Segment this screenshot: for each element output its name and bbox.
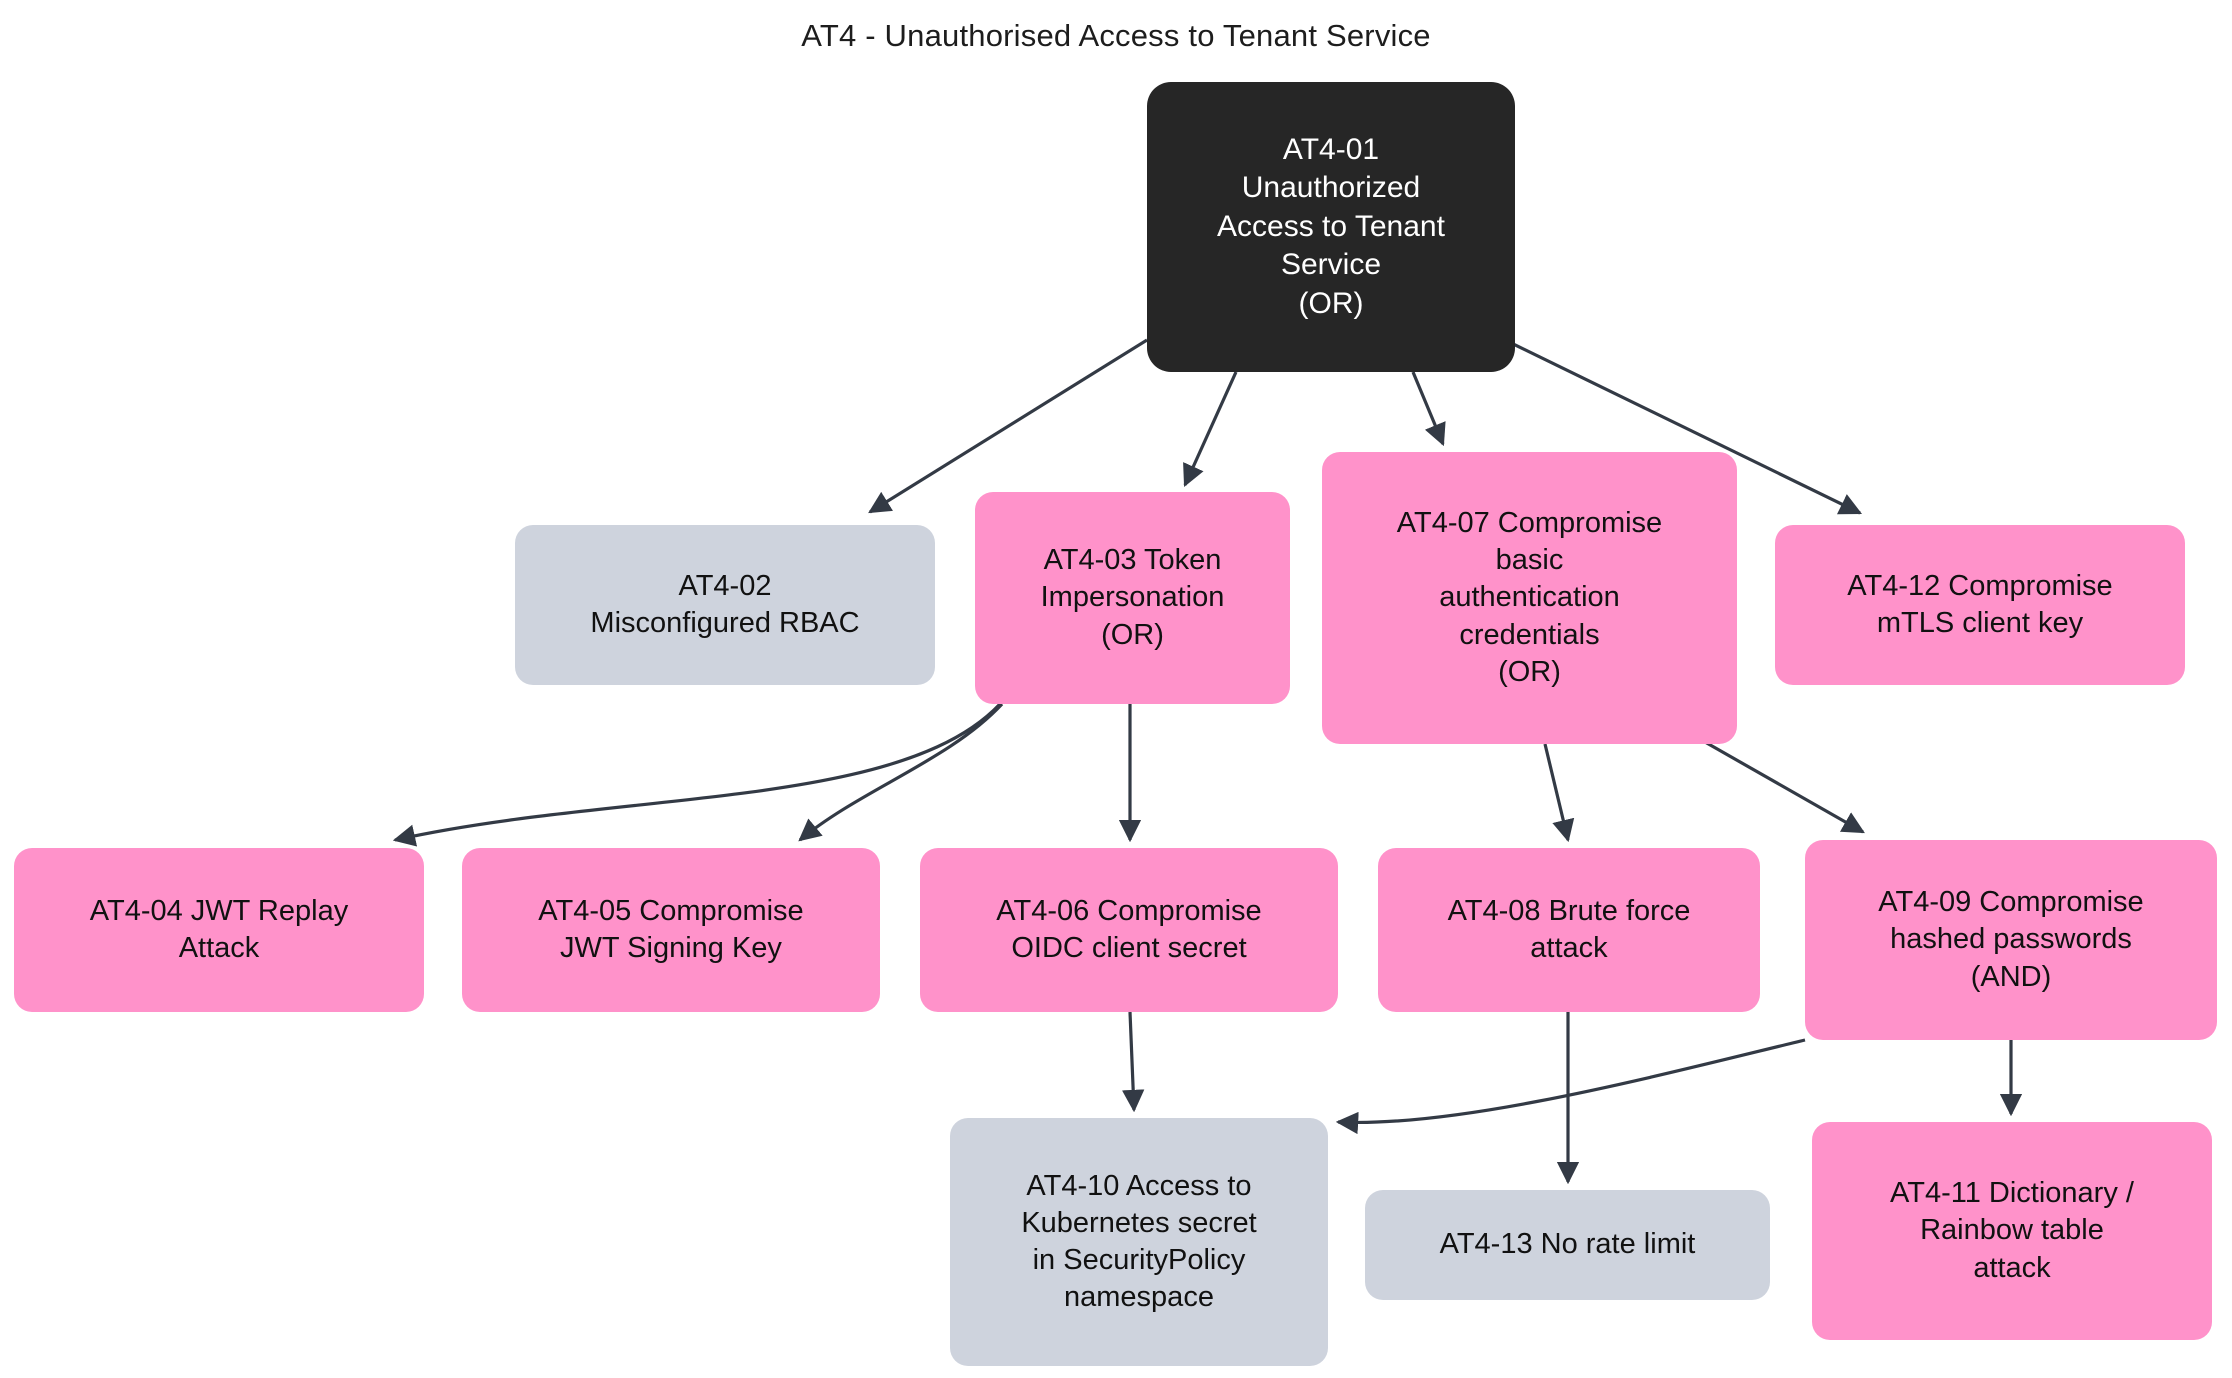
node-at4-04[interactable]: AT4-04 JWT Replay Attack (14, 848, 424, 1012)
edge-at4-09-to-at4-10 (1338, 1040, 1805, 1122)
node-at4-01-label: AT4-01 Unauthorized Access to Tenant Ser… (1217, 131, 1445, 323)
node-at4-12-label: AT4-12 Compromise mTLS client key (1847, 568, 2112, 642)
node-at4-05-label: AT4-05 Compromise JWT Signing Key (538, 893, 803, 967)
edge-at4-01-to-at4-07 (1413, 372, 1443, 444)
node-at4-04-label: AT4-04 JWT Replay Attack (90, 893, 348, 967)
node-at4-07[interactable]: AT4-07 Compromise basic authentication c… (1322, 452, 1737, 744)
edge-at4-07-to-at4-09 (1705, 742, 1863, 832)
edge-at4-07-to-at4-08 (1545, 744, 1568, 840)
node-at4-13[interactable]: AT4-13 No rate limit (1365, 1190, 1770, 1300)
node-at4-06[interactable]: AT4-06 Compromise OIDC client secret (920, 848, 1338, 1012)
node-at4-10-label: AT4-10 Access to Kubernetes secret in Se… (1021, 1168, 1256, 1316)
node-at4-09[interactable]: AT4-09 Compromise hashed passwords (AND) (1805, 840, 2217, 1040)
node-at4-07-label: AT4-07 Compromise basic authentication c… (1397, 505, 1662, 691)
node-at4-03[interactable]: AT4-03 Token Impersonation (OR) (975, 492, 1290, 704)
node-at4-10[interactable]: AT4-10 Access to Kubernetes secret in Se… (950, 1118, 1328, 1366)
node-at4-13-label: AT4-13 No rate limit (1440, 1226, 1696, 1263)
edge-at4-03-to-at4-04 (395, 704, 1000, 840)
node-at4-11[interactable]: AT4-11 Dictionary / Rainbow table attack (1812, 1122, 2212, 1340)
node-at4-06-label: AT4-06 Compromise OIDC client secret (996, 893, 1261, 967)
edge-at4-03-to-at4-05 (800, 704, 1002, 840)
node-at4-12[interactable]: AT4-12 Compromise mTLS client key (1775, 525, 2185, 685)
node-at4-08[interactable]: AT4-08 Brute force attack (1378, 848, 1760, 1012)
node-at4-09-label: AT4-09 Compromise hashed passwords (AND) (1878, 884, 2143, 995)
node-at4-11-label: AT4-11 Dictionary / Rainbow table attack (1890, 1175, 2134, 1286)
node-at4-03-label: AT4-03 Token Impersonation (OR) (1041, 542, 1225, 653)
node-at4-02-label: AT4-02 Misconfigured RBAC (590, 568, 859, 642)
edge-at4-01-to-at4-03 (1185, 372, 1236, 485)
edge-at4-01-to-at4-02 (870, 340, 1147, 512)
node-at4-01[interactable]: AT4-01 Unauthorized Access to Tenant Ser… (1147, 82, 1515, 372)
node-at4-05[interactable]: AT4-05 Compromise JWT Signing Key (462, 848, 880, 1012)
attack-tree-canvas: AT4 - Unauthorised Access to Tenant Serv… (0, 0, 2232, 1378)
node-at4-08-label: AT4-08 Brute force attack (1448, 893, 1691, 967)
node-at4-02[interactable]: AT4-02 Misconfigured RBAC (515, 525, 935, 685)
edge-at4-06-to-at4-10 (1130, 1012, 1134, 1110)
diagram-title: AT4 - Unauthorised Access to Tenant Serv… (0, 18, 2232, 54)
